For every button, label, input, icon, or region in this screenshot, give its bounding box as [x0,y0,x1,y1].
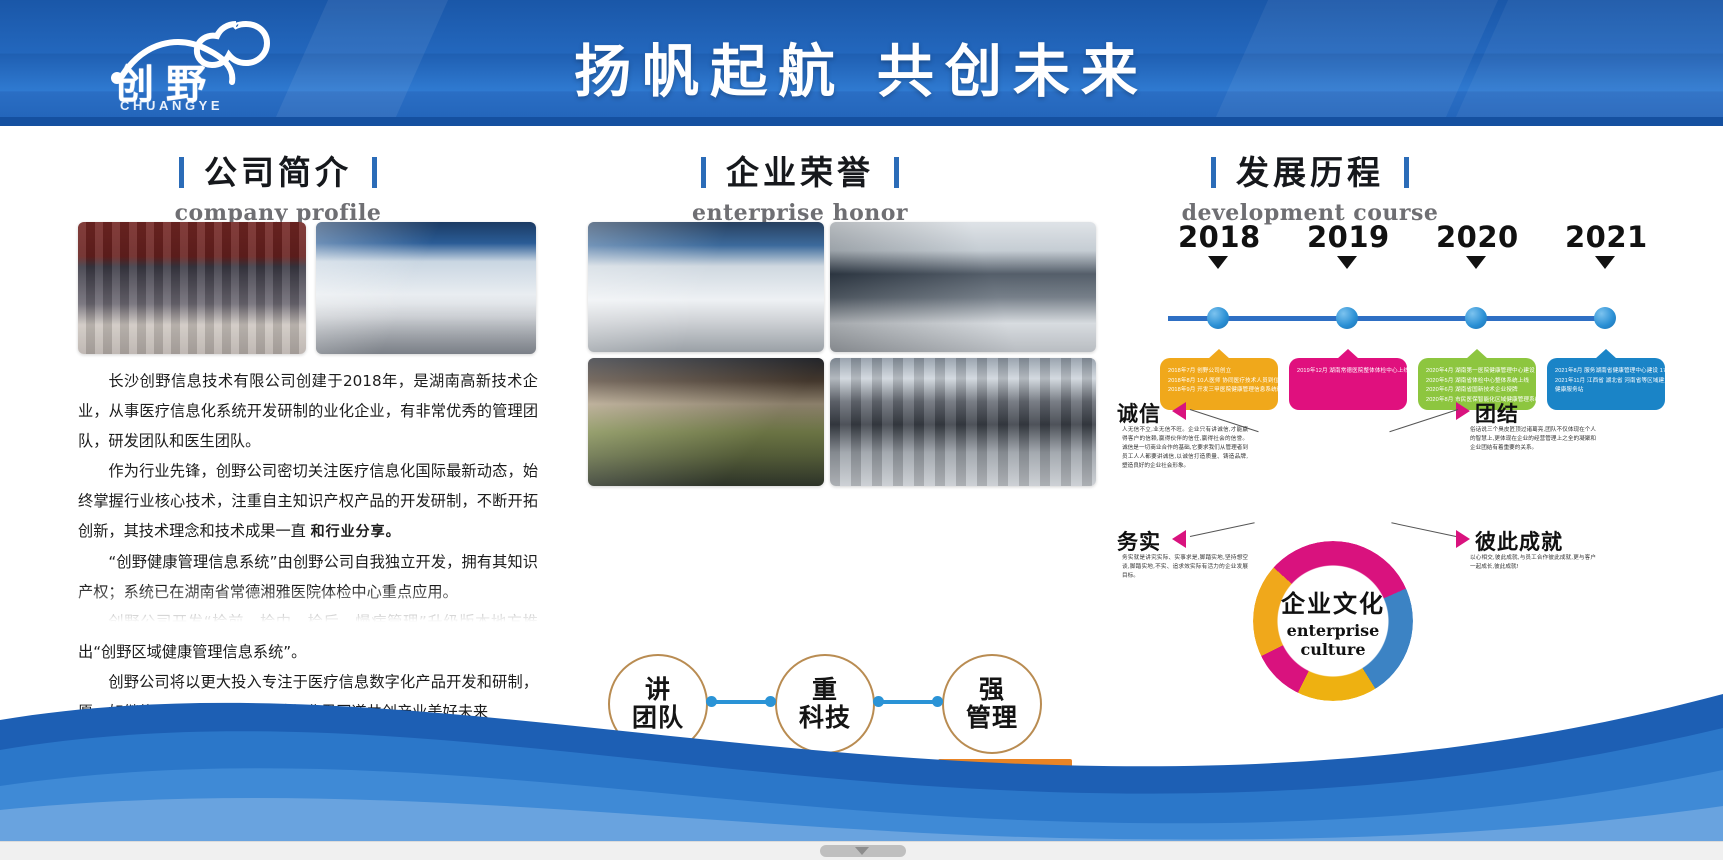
timeline-card-2019-lines: 2019年12月 湖南常德医院整体体检中心上线 [1297,367,1399,377]
timeline-year-2021: 2021 [1565,220,1648,254]
culture-arrow-pragmatism-icon [1172,530,1186,548]
culture-value-desc-unity: 俗话说三个臭皮匠顶过诸葛亮,团队不仅体现在个人的智慧上,更体现在企业的经营管理上… [1470,426,1596,453]
timeline-node-2019 [1336,307,1358,329]
timeline-caret-2020-icon [1466,256,1486,269]
profile-photo-team [78,222,306,354]
profile-paragraph-1: 长沙创野信息技术有限公司创建于2018年，是湖南高新技术企业，从事医疗信息化系统… [78,366,538,456]
section-heading-course: 发展历程 development course [1110,146,1510,226]
timeline-card-2018-line-1: 2018年7月 创野公司创立 [1168,367,1270,377]
heading-bar-left-icon [179,157,184,188]
honor-heading-cn-wrap: 企业荣誉 [701,146,899,194]
timeline-card-2020-line-1: 2020年4月 湖南第一医院健康管理中心建设 [1426,367,1528,377]
profile-heading-cn: 公司简介 [204,153,352,192]
timeline-year-2018: 2018 [1178,220,1261,254]
culture-value-desc-integrity: 人无信不立,业无信不旺。企业只有讲诚信,才能赢得客户的信赖,赢得伙伴的信任,赢得… [1122,426,1248,471]
timeline-card-2021-line-2: 2021年11月 江西省 湖北省 河南省等区域建立服务体系 [1555,377,1657,387]
timeline-axis [1168,316,1608,321]
horizontal-scrollbar[interactable] [0,841,1723,860]
timeline-year-2020: 2020 [1436,220,1519,254]
culture-value-label-mutual-success: 彼此成就 [1475,526,1563,556]
timeline-card-2021: 2021年8月 服务湖南省健康管理中心建设 17家 2021年11月 江西省 湖… [1547,358,1665,410]
timeline-card-2018-line-3: 2018年9月 开发三甲医院健康管理信息系统研发 [1168,386,1270,396]
profile-heading-cn-wrap: 公司简介 [179,146,377,194]
timeline-card-2021-line-1: 2021年8月 服务湖南省健康管理中心建设 17家 [1555,367,1657,377]
culture-value-label-unity: 团结 [1475,398,1519,428]
wave-graphic-icon [0,624,1723,860]
course-heading-cn: 发展历程 [1236,153,1384,192]
culture-leader-pragmatism [1190,522,1255,537]
header-underline [0,117,1723,126]
culture-leader-mutual-success [1391,522,1456,537]
timeline-card-2018-lines: 2018年7月 创野公司创立 2018年8月 10人医师 协同医疗技术人员到位 … [1168,367,1270,396]
culture-arrow-integrity-icon [1172,402,1186,420]
timeline-card-2019-line-1: 2019年12月 湖南常德医院整体体检中心上线 [1297,367,1399,377]
timeline-caret-2018-icon [1208,256,1228,269]
poster-footer-waves [0,624,1723,860]
heading-bar-right-icon [894,157,899,188]
honor-heading-cn: 企业荣誉 [726,153,874,192]
timeline-card-2021-lines: 2021年8月 服务湖南省健康管理中心建设 17家 2021年11月 江西省 湖… [1555,367,1657,396]
heading-bar-left-icon [1211,157,1216,188]
honor-photo-meeting [830,222,1096,352]
heading-bar-left-icon [701,157,706,188]
section-heading-profile: 公司简介 company profile [78,146,478,226]
profile-inline-fancy: 和行业分享。 [311,524,401,540]
heading-bar-right-icon [372,157,377,188]
heading-bar-right-icon [1404,157,1409,188]
timeline-card-2018-line-2: 2018年8月 10人医师 协同医疗技术人员到位 [1168,377,1270,387]
timeline-caret-2021-icon [1595,256,1615,269]
culture-arrow-mutual-success-icon [1456,530,1470,548]
timeline-node-2020 [1465,307,1487,329]
honor-photo-staff-group [830,358,1096,486]
profile-paragraph-2: 作为行业先锋，创野公司密切关注医疗信息化国际最新动态，始终掌握行业核心技术，注重… [78,456,538,547]
honor-photo-workspace [588,358,824,486]
culture-leader-unity [1389,409,1458,432]
culture-center-cn: 企业文化 [1281,584,1385,619]
timeline-card-2021-line-3: 健康服务站 [1555,386,1657,396]
culture-value-desc-mutual-success: 以心相交,彼此成就,与员工合作彼此成就,更与客户一起成长,彼此成就! [1470,554,1596,572]
honor-photo-lobby [588,222,824,352]
culture-value-label-pragmatism: 务实 [1117,526,1161,556]
timeline-card-2020-line-3: 2020年6月 湖南省国新技术企业授牌 [1426,386,1528,396]
timeline-node-2021 [1594,307,1616,329]
timeline-caret-2019-icon [1337,256,1357,269]
timeline-node-2018 [1207,307,1229,329]
culture-wall-poster: 创野 CHUANGYE 扬帆起航 共创未来 公司简介 company profi… [0,0,1723,860]
timeline-card-2020-line-2: 2020年5月 湖南省体检中心整体系统上线 [1426,377,1528,387]
section-heading-honor: 企业荣誉 enterprise honor [600,146,1000,226]
culture-value-desc-pragmatism: 务实就是讲究实际、实事求是,脚踏实地,坚持想空谈,脚踏实地,不实、追求效实际有活… [1122,554,1248,581]
poster-header: 创野 CHUANGYE 扬帆起航 共创未来 [0,0,1723,126]
profile-photo-reception [316,222,536,354]
culture-arrow-unity-icon [1456,402,1470,420]
culture-value-label-integrity: 诚信 [1117,398,1161,428]
course-heading-cn-wrap: 发展历程 [1211,146,1409,194]
poster-title: 扬帆起航 共创未来 [0,26,1723,108]
profile-paragraph-2-main: 作为行业先锋，创野公司密切关注医疗信息化国际最新动态，始终掌握行业核心技术，注重… [78,462,538,540]
scroll-down-caret-icon[interactable] [855,847,869,855]
timeline-year-2019: 2019 [1307,220,1390,254]
timeline-card-2019: 2019年12月 湖南常德医院整体体检中心上线 [1289,358,1407,410]
